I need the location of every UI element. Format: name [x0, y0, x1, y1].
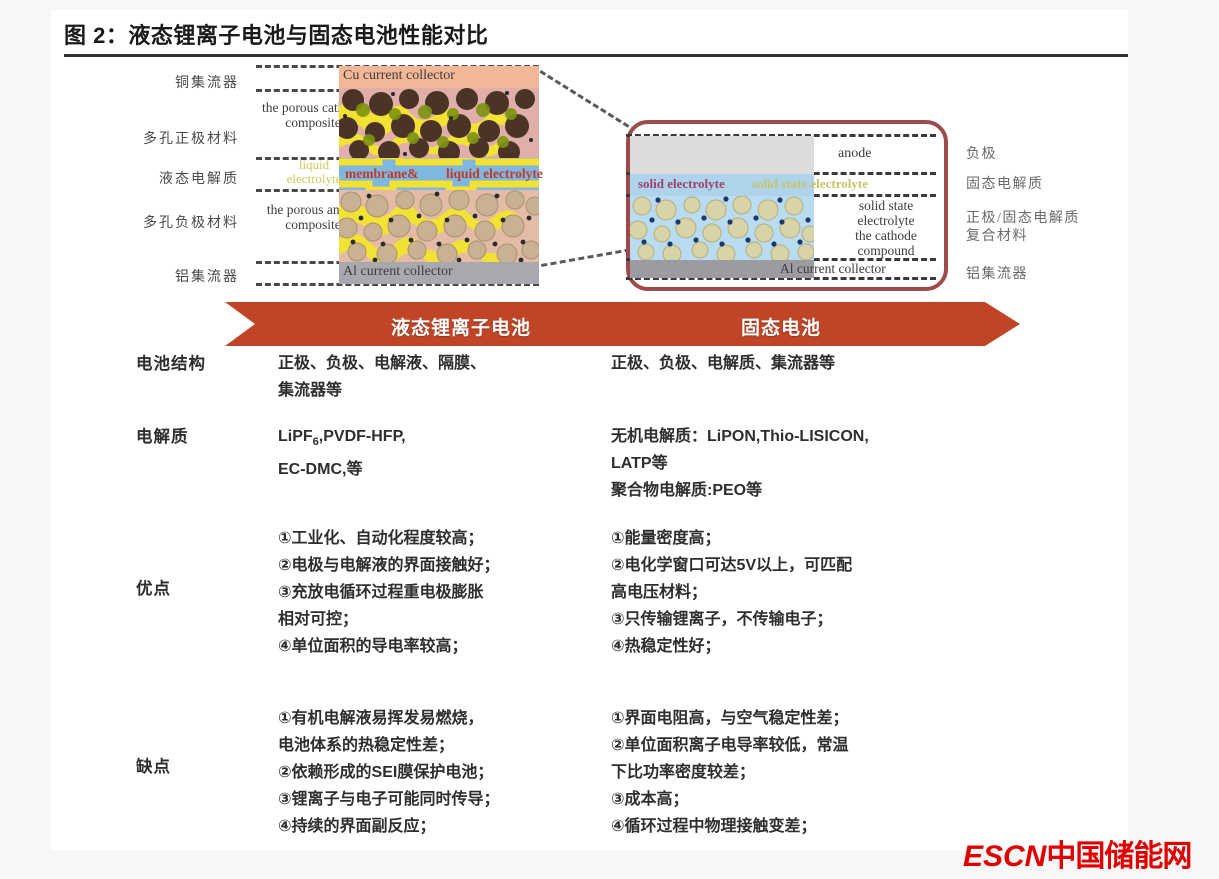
row-key-electrolyte: 电解质	[136, 423, 256, 447]
cell-electrolyte-liquid: LiPF6,PVDF-HFP,EC-DMC,等	[278, 423, 608, 483]
solid-state-cell-box: anode solid electrolyte solid state elec…	[626, 120, 948, 291]
battery-structure-diagram: 铜集流器 多孔正极材料 液态电解质 多孔负极材料 铝集流器 the porous…	[51, 58, 1128, 298]
cell-disadvantages-liquid: ①有机电解液易挥发易燃烧， 电池体系的热稳定性差； ②依赖形成的SEI膜保护电池…	[278, 705, 608, 840]
banner-label-liquid: 液态锂离子电池	[391, 313, 531, 340]
sse-anode-caption: anode	[838, 146, 871, 162]
sse-layer-cathode	[630, 196, 814, 260]
cell-advantages-solid: ①能量密度高； ②电化学窗口可达5V以上，可匹配 高电压材料； ③只传输锂离子，…	[611, 525, 1031, 660]
page-title: 图 2：液态锂离子电池与固态电池性能对比	[64, 18, 488, 50]
cell-structure-liquid: 正极、负极、电解液、隔膜、 集流器等	[278, 350, 608, 404]
connector-top	[539, 70, 644, 137]
cell-advantages-liquid: ①工业化、自动化程度较高； ②电极与电解液的界面接触好； ③充放电循环过程重电极…	[278, 525, 608, 660]
anode-particles-svg	[339, 190, 539, 262]
cu-collector-caption: Cu current collector	[343, 68, 455, 84]
diagram-left-label-cu: 铜集流器	[109, 72, 239, 92]
layer-porous-anode	[339, 190, 539, 262]
diagram-left-label-al: 铝集流器	[109, 266, 239, 286]
cell-electrolyte-solid: 无机电解质：LiPON,Thio-LISICON, LATP等 聚合物电解质:P…	[611, 423, 1031, 504]
cathode-particles-svg	[339, 88, 539, 158]
sse-cathode-compound-caption: solid state electrolyte the cathode comp…	[834, 198, 938, 258]
title-divider	[64, 54, 1128, 57]
diagram-left-label-electrolyte: 液态电解质	[109, 168, 239, 188]
al-collector-caption: Al current collector	[343, 264, 453, 280]
row-key-structure: 电池结构	[136, 350, 256, 374]
layer-porous-cathode	[339, 88, 539, 158]
diagram-left-label-cathode: 多孔正极材料	[109, 128, 239, 148]
logo-cn: 中国储能网	[1046, 840, 1191, 873]
diagram-right-label-anode: 负极	[966, 146, 997, 164]
sse-cathode-particles-svg	[630, 196, 814, 260]
figure-card: 图 2：液态锂离子电池与固态电池性能对比 铜集流器 多孔正极材料 液态电解质 多…	[51, 10, 1128, 850]
escn-logo: ESCN中国储能网	[963, 831, 1191, 875]
diagram-right-label-cathode: 正极/固态电解质 复合材料	[966, 210, 1080, 246]
cell-structure-solid: 正极、负极、电解质、集流器等	[611, 350, 1031, 377]
diagram-right-label-electrolyte: 固态电解质	[966, 176, 1044, 194]
liquid-electrolyte-caption: liquid electrolyte	[279, 158, 349, 186]
cell-disadvantages-solid: ①界面电阻高，与空气稳定性差； ②单位面积离子电导率较低，常温 下比功率密度较差…	[611, 705, 1031, 840]
sse-layer-anode	[630, 136, 814, 174]
logo-en: ESCN	[963, 840, 1046, 873]
membrane-caption: membrane&	[345, 166, 418, 182]
liquid-electrolyte-inner-caption: liquid electrolyte	[446, 166, 543, 182]
banner-label-solid: 固态电池	[741, 313, 821, 340]
sse-solid-electrolyte-caption: solid electrolyte	[638, 176, 725, 192]
comparison-banner	[225, 302, 1020, 346]
sse-solid-state-electrolyte-caption: solid state electrolyte	[752, 176, 868, 192]
row-key-disadvantages: 缺点	[136, 753, 256, 777]
diagram-left-label-anode: 多孔负极材料	[109, 212, 239, 232]
sse-al-collector-caption: Al current collector	[780, 261, 886, 277]
diagram-right-label-al: 铝集流器	[966, 266, 1028, 284]
row-key-advantages: 优点	[136, 575, 256, 599]
